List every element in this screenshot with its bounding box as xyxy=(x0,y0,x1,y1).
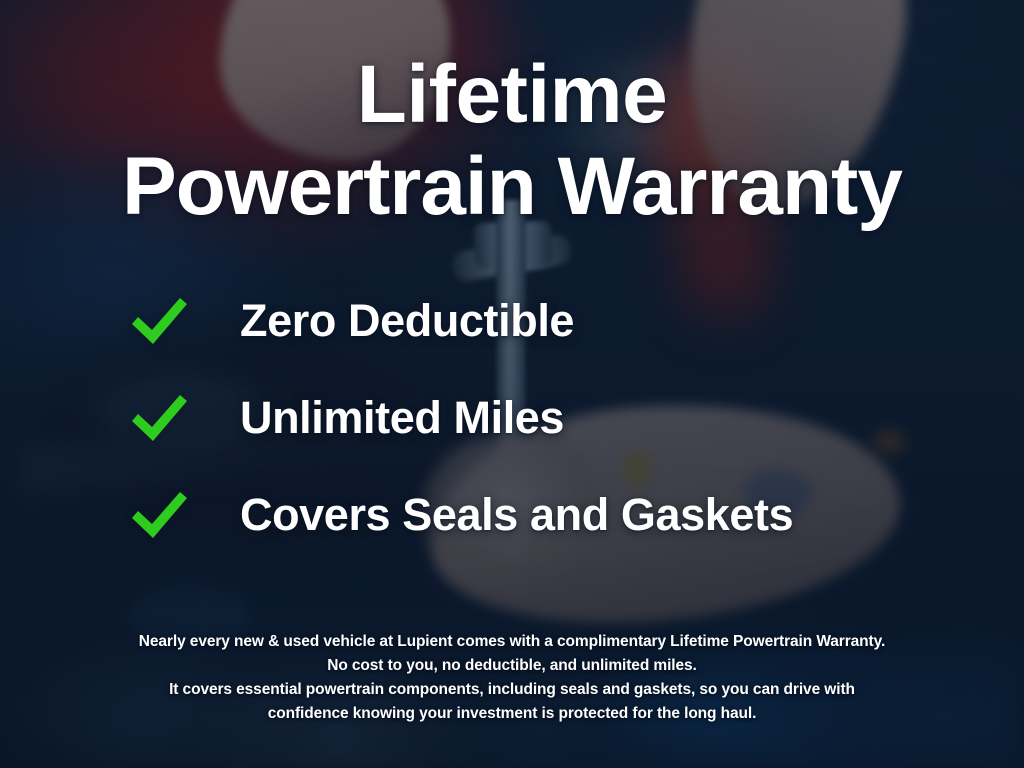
feature-label-zero-deductible: Zero Deductible xyxy=(240,295,574,347)
feature-item-covers-seals-and-gaskets: Covers Seals and Gaskets xyxy=(128,482,968,548)
footer-line-1: Nearly every new & used vehicle at Lupie… xyxy=(24,630,1000,654)
check-icon xyxy=(128,293,190,349)
feature-label-unlimited-miles: Unlimited Miles xyxy=(240,392,564,444)
warranty-banner: Lifetime Powertrain Warranty Zero Deduct… xyxy=(0,0,1024,768)
footer-description: Nearly every new & used vehicle at Lupie… xyxy=(0,630,1024,726)
feature-label-covers-seals-and-gaskets: Covers Seals and Gaskets xyxy=(240,489,793,541)
banner-content: Lifetime Powertrain Warranty Zero Deduct… xyxy=(0,0,1024,768)
feature-item-unlimited-miles: Unlimited Miles xyxy=(128,385,968,451)
feature-item-zero-deductible: Zero Deductible xyxy=(128,288,968,354)
feature-list: Zero Deductible Unlimited Miles Covers S… xyxy=(128,288,968,579)
headline-line-2: Powertrain Warranty xyxy=(0,146,1024,228)
check-icon xyxy=(128,487,190,543)
footer-line-4: confidence knowing your investment is pr… xyxy=(24,702,1000,726)
footer-line-3: It covers essential powertrain component… xyxy=(24,678,1000,702)
footer-line-2: No cost to you, no deductible, and unlim… xyxy=(24,654,1000,678)
check-icon xyxy=(128,390,190,446)
headline-line-1: Lifetime xyxy=(0,54,1024,136)
